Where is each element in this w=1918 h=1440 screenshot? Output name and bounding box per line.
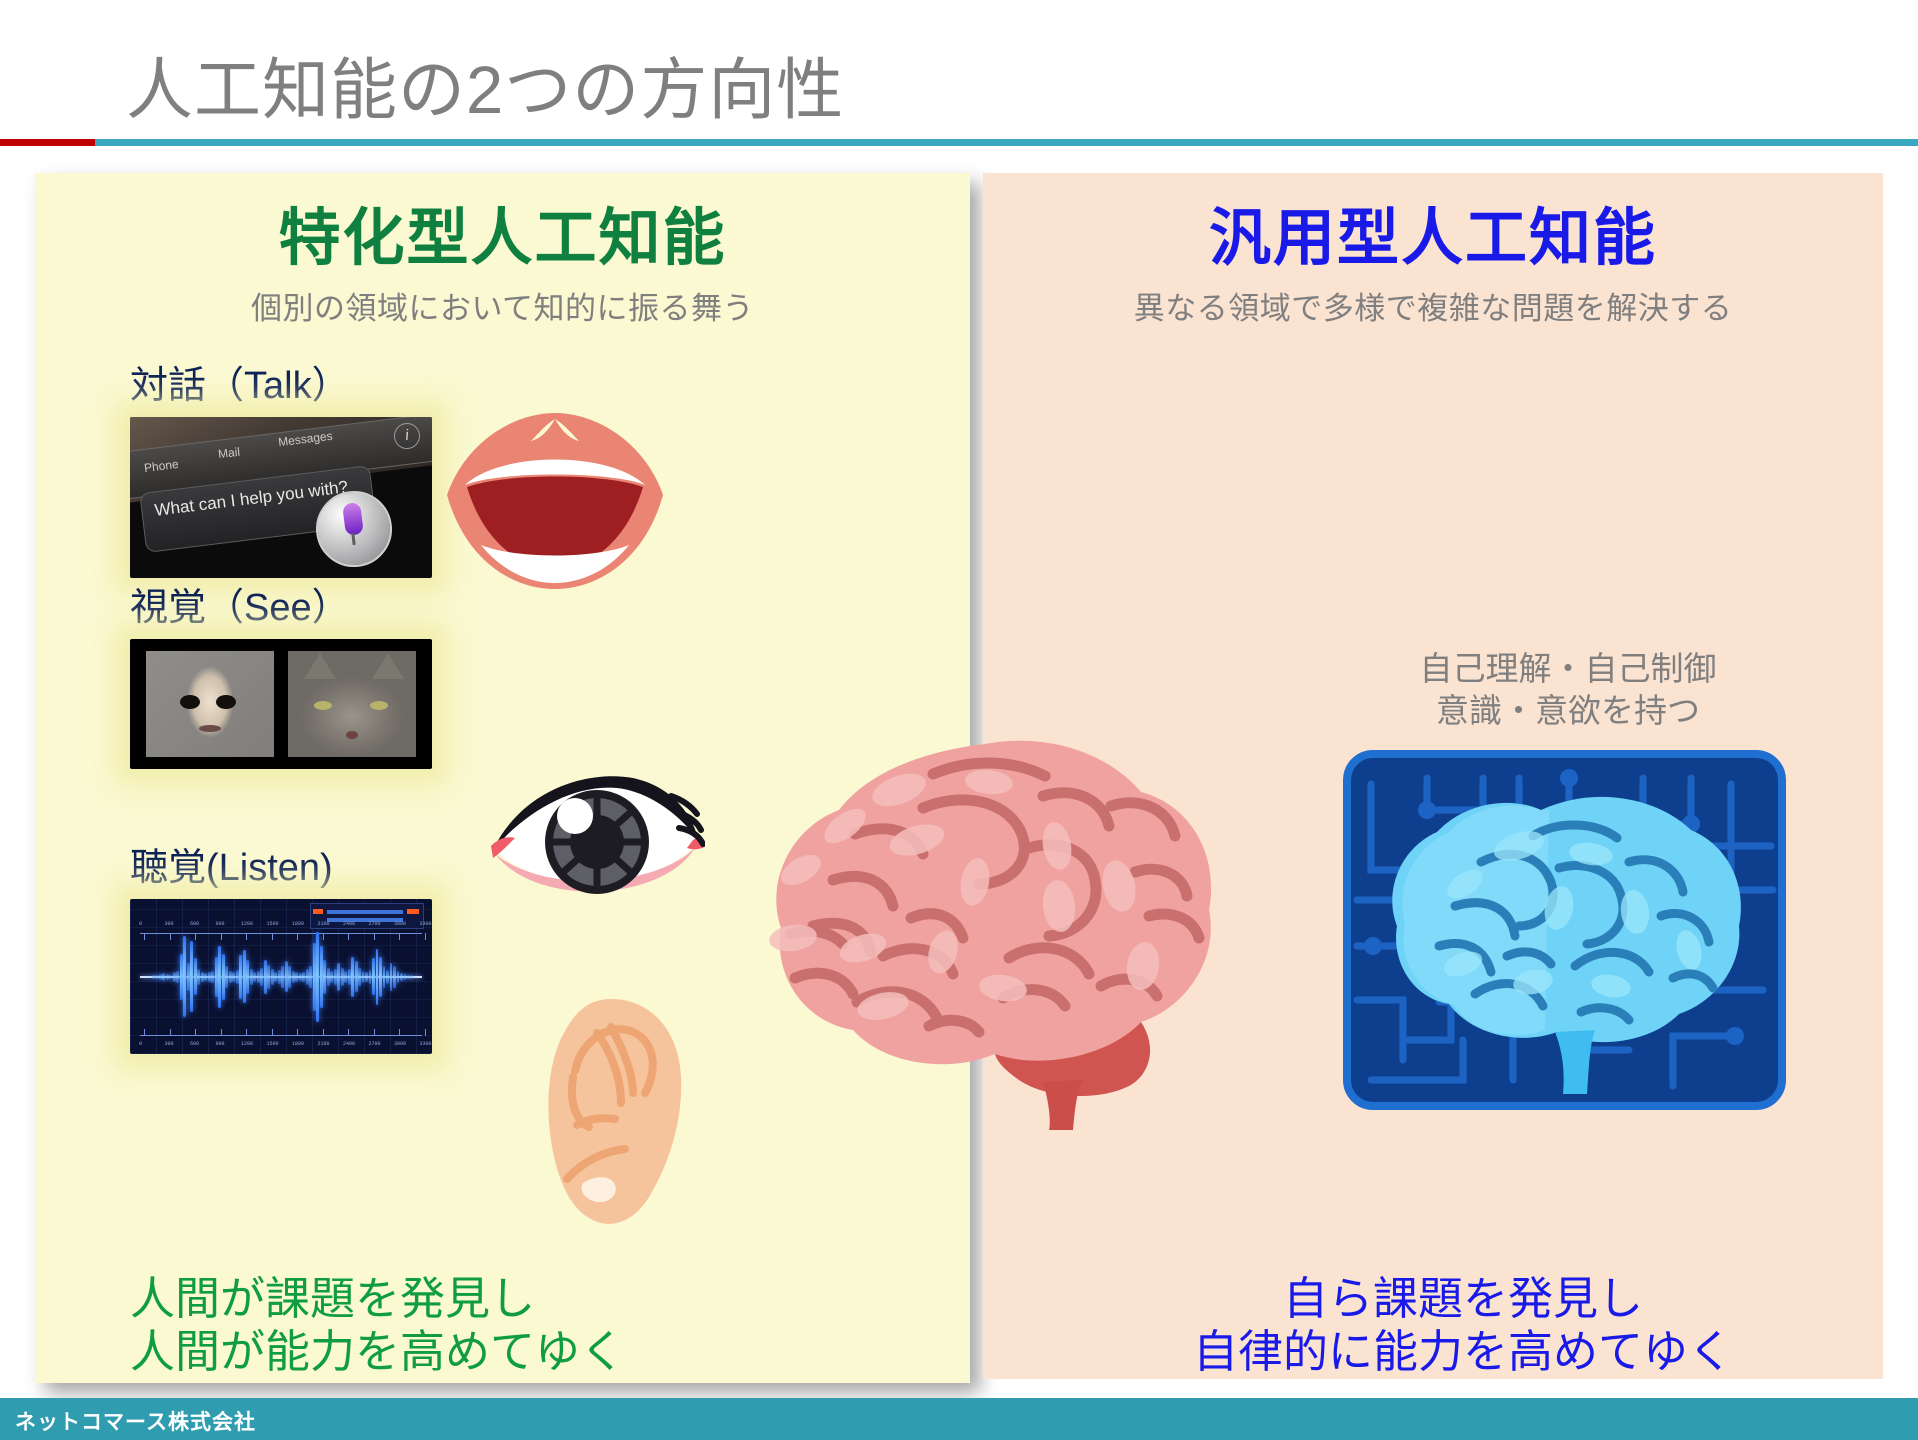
right-panel-statement: 自ら課題を発見し 自律的に能力を高めてゆく bbox=[1163, 1272, 1763, 1378]
left-panel-statement: 人間が課題を発見し 人間が能力を高めてゆく bbox=[130, 1272, 625, 1378]
right-panel-note: 自己理解・自己制御 意識・意欲を持つ bbox=[1383, 648, 1753, 732]
capability-talk-label: 対話（Talk） bbox=[130, 354, 432, 409]
cat-eye-left bbox=[314, 701, 332, 710]
right-panel-heading: 汎用型人工知能 bbox=[983, 205, 1883, 273]
left-panel-subtitle: 個別の領域において知的に振る舞う bbox=[35, 283, 970, 328]
capability-talk: 対話（Talk） Phone Mail Messages i What can … bbox=[130, 354, 432, 578]
cat-ear-left bbox=[304, 653, 336, 679]
ai-brain-circuit-illustration bbox=[1343, 750, 1786, 1115]
title-rule-accent bbox=[0, 139, 95, 146]
waveform-ruler-bottom bbox=[140, 1035, 422, 1036]
human-brain-illustration bbox=[757, 730, 1227, 1135]
cat-neuron-image bbox=[288, 651, 416, 757]
open-mouth-illustration bbox=[435, 399, 675, 604]
left-panel-header: 特化型人工知能 個別の領域において知的に振る舞う bbox=[35, 205, 970, 328]
face-mouth bbox=[199, 725, 221, 732]
page-title: 人工知能の2つの方向性 bbox=[126, 36, 844, 133]
capability-see: 視覚（See） bbox=[130, 576, 432, 769]
ear-illustration bbox=[535, 993, 695, 1238]
left-panel-heading: 特化型人工知能 bbox=[35, 205, 970, 273]
face-neuron-image bbox=[146, 651, 274, 757]
deep-learning-face-cat-visualization bbox=[130, 639, 432, 769]
capability-listen-label: 聴覚(Listen) bbox=[130, 836, 432, 891]
right-panel-header: 汎用型人工知能 異なる領域で多様で複雑な問題を解決する bbox=[983, 205, 1883, 328]
eye-illustration bbox=[485, 758, 705, 933]
cat-ear-right bbox=[372, 653, 404, 679]
footer-bar bbox=[0, 1398, 1918, 1440]
title-rule bbox=[0, 139, 1918, 146]
face-eye-right bbox=[216, 695, 236, 709]
siri-screenshot: Phone Mail Messages i What can I help yo… bbox=[130, 417, 432, 578]
cat-nose bbox=[346, 731, 358, 739]
right-panel-subtitle: 異なる領域で多様で複雑な問題を解決する bbox=[983, 283, 1883, 328]
cat-eye-right bbox=[370, 701, 388, 710]
siri-label-mail: Mail bbox=[217, 445, 241, 462]
capability-listen: 聴覚(Listen) 00300300600600900900120012001… bbox=[130, 836, 432, 1054]
waveform-ruler-top bbox=[140, 933, 422, 934]
capability-see-label: 視覚（See） bbox=[130, 576, 432, 631]
audio-waveform-visualization: 0030030060060090090012001200150015001800… bbox=[130, 899, 432, 1054]
footer-company: ネットコマース株式会社 bbox=[15, 1406, 256, 1436]
face-eye-left bbox=[180, 695, 200, 709]
